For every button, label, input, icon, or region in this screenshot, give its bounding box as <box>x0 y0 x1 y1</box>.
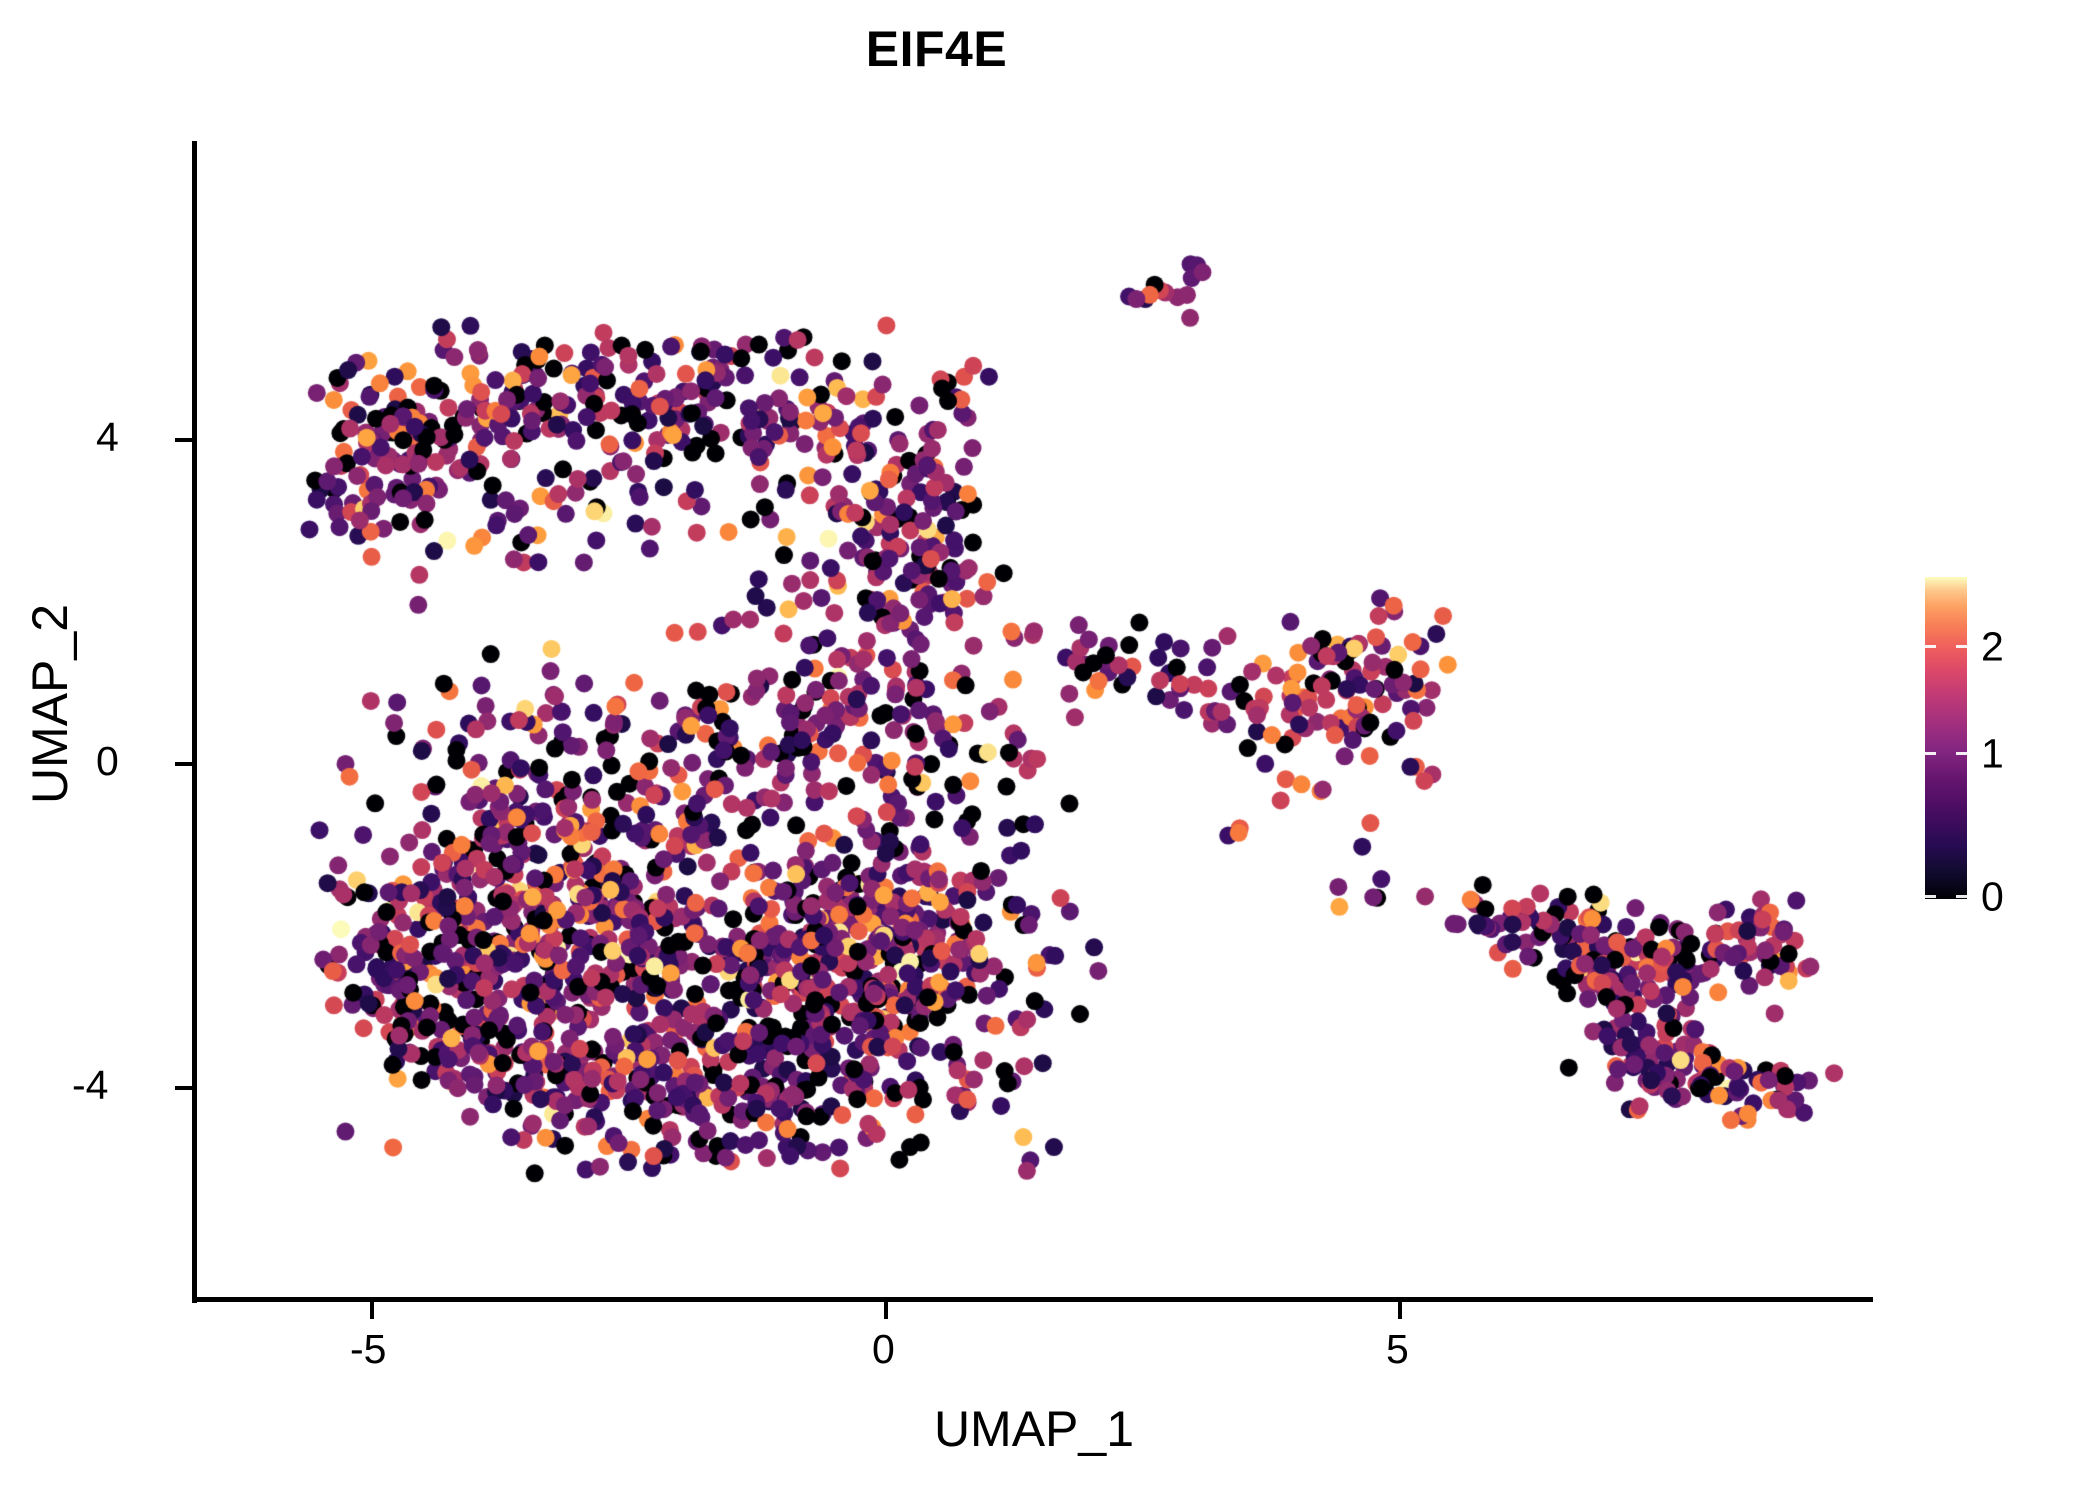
x-tick-label-0: 0 <box>872 1326 895 1373</box>
y-axis-title: UMAP_2 <box>21 454 79 954</box>
colorbar-label-0: 0 <box>1981 874 2004 921</box>
colorbar-label-2: 2 <box>1981 624 2004 671</box>
y-axis-line <box>192 141 197 1303</box>
y-tick-0 <box>175 762 192 766</box>
x-axis-line <box>192 1297 1873 1302</box>
colorbar-tick-1-left <box>1925 752 1936 755</box>
colorbar-label-1: 1 <box>1981 731 2004 778</box>
y-tick-neg4 <box>175 1086 192 1090</box>
colorbar-tick-0-right <box>1956 895 1967 898</box>
x-tick-0 <box>884 1302 888 1319</box>
x-tick-label-neg5: -5 <box>350 1326 386 1373</box>
x-tick-label-5: 5 <box>1386 1326 1409 1373</box>
y-tick-4 <box>175 438 192 442</box>
scatter-layer <box>0 0 2100 1500</box>
colorbar-tick-2-left <box>1925 645 1936 648</box>
colorbar-tick-2-right <box>1956 645 1967 648</box>
colorbar-tick-0-left <box>1925 895 1936 898</box>
x-axis-title: UMAP_1 <box>195 1400 1873 1458</box>
colorbar-gradient <box>1925 577 1967 899</box>
chart-root: EIF4E 4 0 -4 -5 0 5 UMAP_2 UMAP_1 2 1 0 <box>0 0 2100 1500</box>
x-tick-5 <box>1398 1302 1402 1319</box>
colorbar-tick-1-right <box>1956 752 1967 755</box>
x-tick-neg5 <box>370 1302 374 1319</box>
colorbar: 2 1 0 <box>1925 577 1967 899</box>
